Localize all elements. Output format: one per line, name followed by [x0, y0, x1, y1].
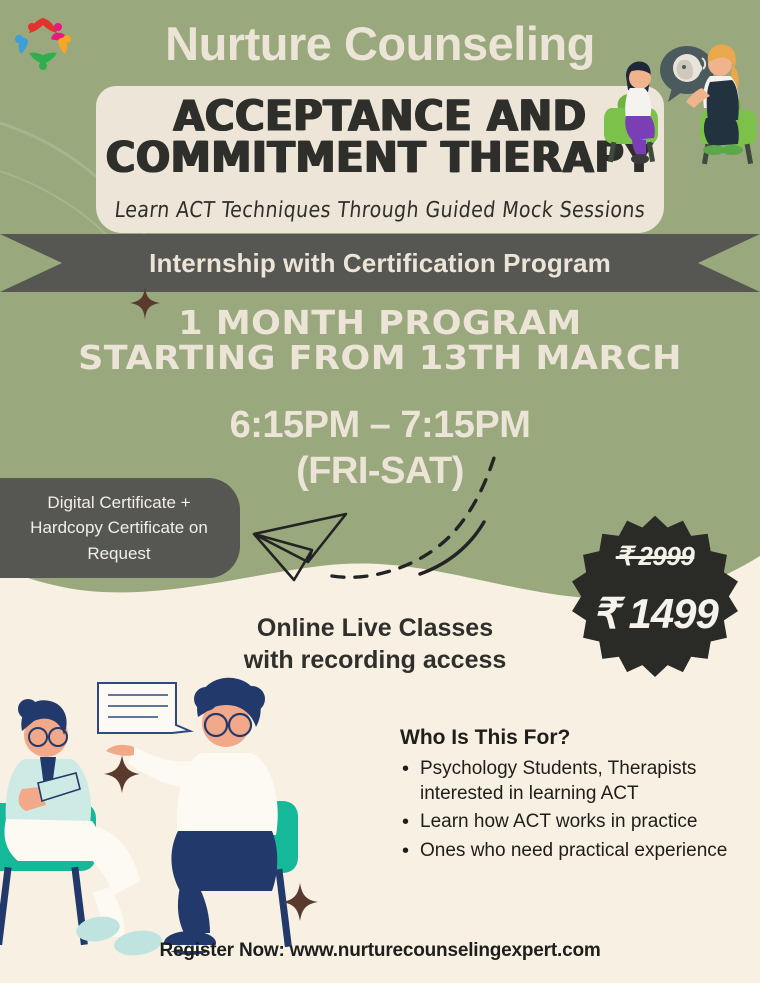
list-item: Learn how ACT works in practice: [400, 810, 730, 835]
online-line-1: Online Live Classes: [195, 612, 555, 644]
certificate-line-1: Digital Certificate +: [30, 490, 208, 516]
dashed-trail-icon: [328, 452, 558, 592]
program-duration: 1 MONTH PROGRAM STARTING FROM 13TH MARCH: [0, 306, 760, 376]
price-badge: ₹ 2999 ₹ 1499: [566, 503, 744, 681]
headline-card: ACCEPTANCE AND COMMITMENT THERAPY Learn …: [96, 86, 664, 233]
ribbon-banner: Internship with Certification Program: [0, 234, 760, 292]
program-time: 6:15PM – 7:15PM: [0, 403, 760, 449]
audience-list: Psychology Students, Therapists interest…: [400, 757, 730, 864]
register-cta[interactable]: Register Now: www.nurturecounselingexper…: [0, 940, 760, 962]
poster: Nurture Counseling ACCEPTANCE AND COMMIT…: [0, 0, 760, 983]
program-line-2: STARTING FROM 13TH MARCH: [0, 341, 760, 376]
program-line-1: 1 MONTH PROGRAM: [0, 306, 760, 341]
price-new: ₹ 1499: [566, 589, 744, 638]
certificate-line-3: Request: [30, 541, 208, 567]
therapist-and-client-session-illustration: [0, 655, 334, 965]
certificate-line-2: Hardcopy Certificate on: [30, 515, 208, 541]
audience-heading: Who Is This For?: [400, 726, 730, 750]
price-old: ₹ 2999: [566, 541, 744, 572]
certificate-text: Digital Certificate + Hardcopy Certifica…: [30, 490, 208, 567]
two-people-counseling-session-illustration: [598, 22, 760, 174]
list-item: Psychology Students, Therapists interest…: [400, 757, 730, 806]
ribbon-label: Internship with Certification Program: [0, 234, 760, 292]
certificate-badge: Digital Certificate + Hardcopy Certifica…: [0, 478, 240, 578]
headline-text: ACCEPTANCE AND COMMITMENT THERAPY: [79, 96, 681, 179]
headline-subtitle: Learn ACT Techniques Through Guided Mock…: [95, 197, 666, 222]
headline-line-2: COMMITMENT THERAPY: [79, 138, 681, 180]
audience-section: Who Is This For? Psychology Students, Th…: [400, 726, 730, 868]
headline-line-1: ACCEPTANCE AND: [79, 96, 681, 138]
list-item: Ones who need practical experience: [400, 839, 730, 864]
